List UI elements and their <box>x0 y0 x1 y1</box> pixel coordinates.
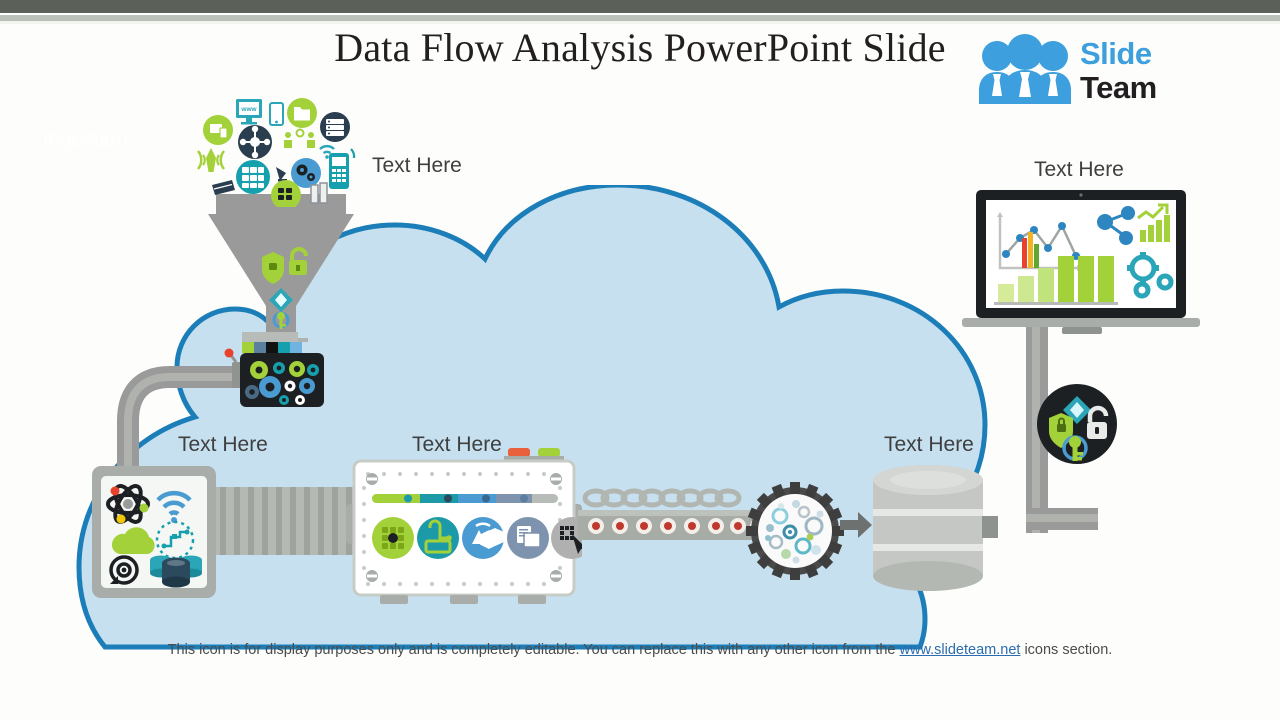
conveyor-belt-icon <box>578 484 768 554</box>
ingestion-label: Ingestion <box>0 128 170 152</box>
source-icons-cluster: www <box>196 95 371 207</box>
slideteam-link[interactable]: www.slideteam.net <box>900 642 1021 658</box>
devices-panel <box>88 462 220 602</box>
security-circle-icon <box>1035 382 1119 466</box>
processing-machine <box>346 448 582 614</box>
database-cylinder-icon <box>868 464 998 596</box>
laptop-icon <box>962 190 1200 338</box>
caption-text-2: icons section. <box>1020 642 1112 658</box>
red-button <box>508 448 530 457</box>
slide-canvas: Data Flow Analysis PowerPoint Slide Slid… <box>0 0 1280 720</box>
bellows-pipe <box>216 487 356 555</box>
gear-cluster-icon <box>746 482 844 580</box>
three-people-icon <box>975 34 1075 104</box>
green-button <box>538 448 560 457</box>
caption-text-1: This icon is for display purposes only a… <box>168 642 900 658</box>
label-ingestion-source: Text Here <box>372 154 462 178</box>
footer-caption: This icon is for display purposes only a… <box>150 640 1130 661</box>
logo-word-slide: Slide <box>1080 36 1152 72</box>
logo-word-team: Team <box>1080 70 1157 106</box>
slideteam-logo[interactable]: Slide Team <box>975 28 1180 106</box>
gear-processor-icon <box>222 332 332 410</box>
label-output: Text Here <box>1034 158 1124 182</box>
window-top-bar <box>0 0 1280 13</box>
label-storage: Text Here <box>884 433 974 457</box>
svg-text:www: www <box>240 106 257 113</box>
